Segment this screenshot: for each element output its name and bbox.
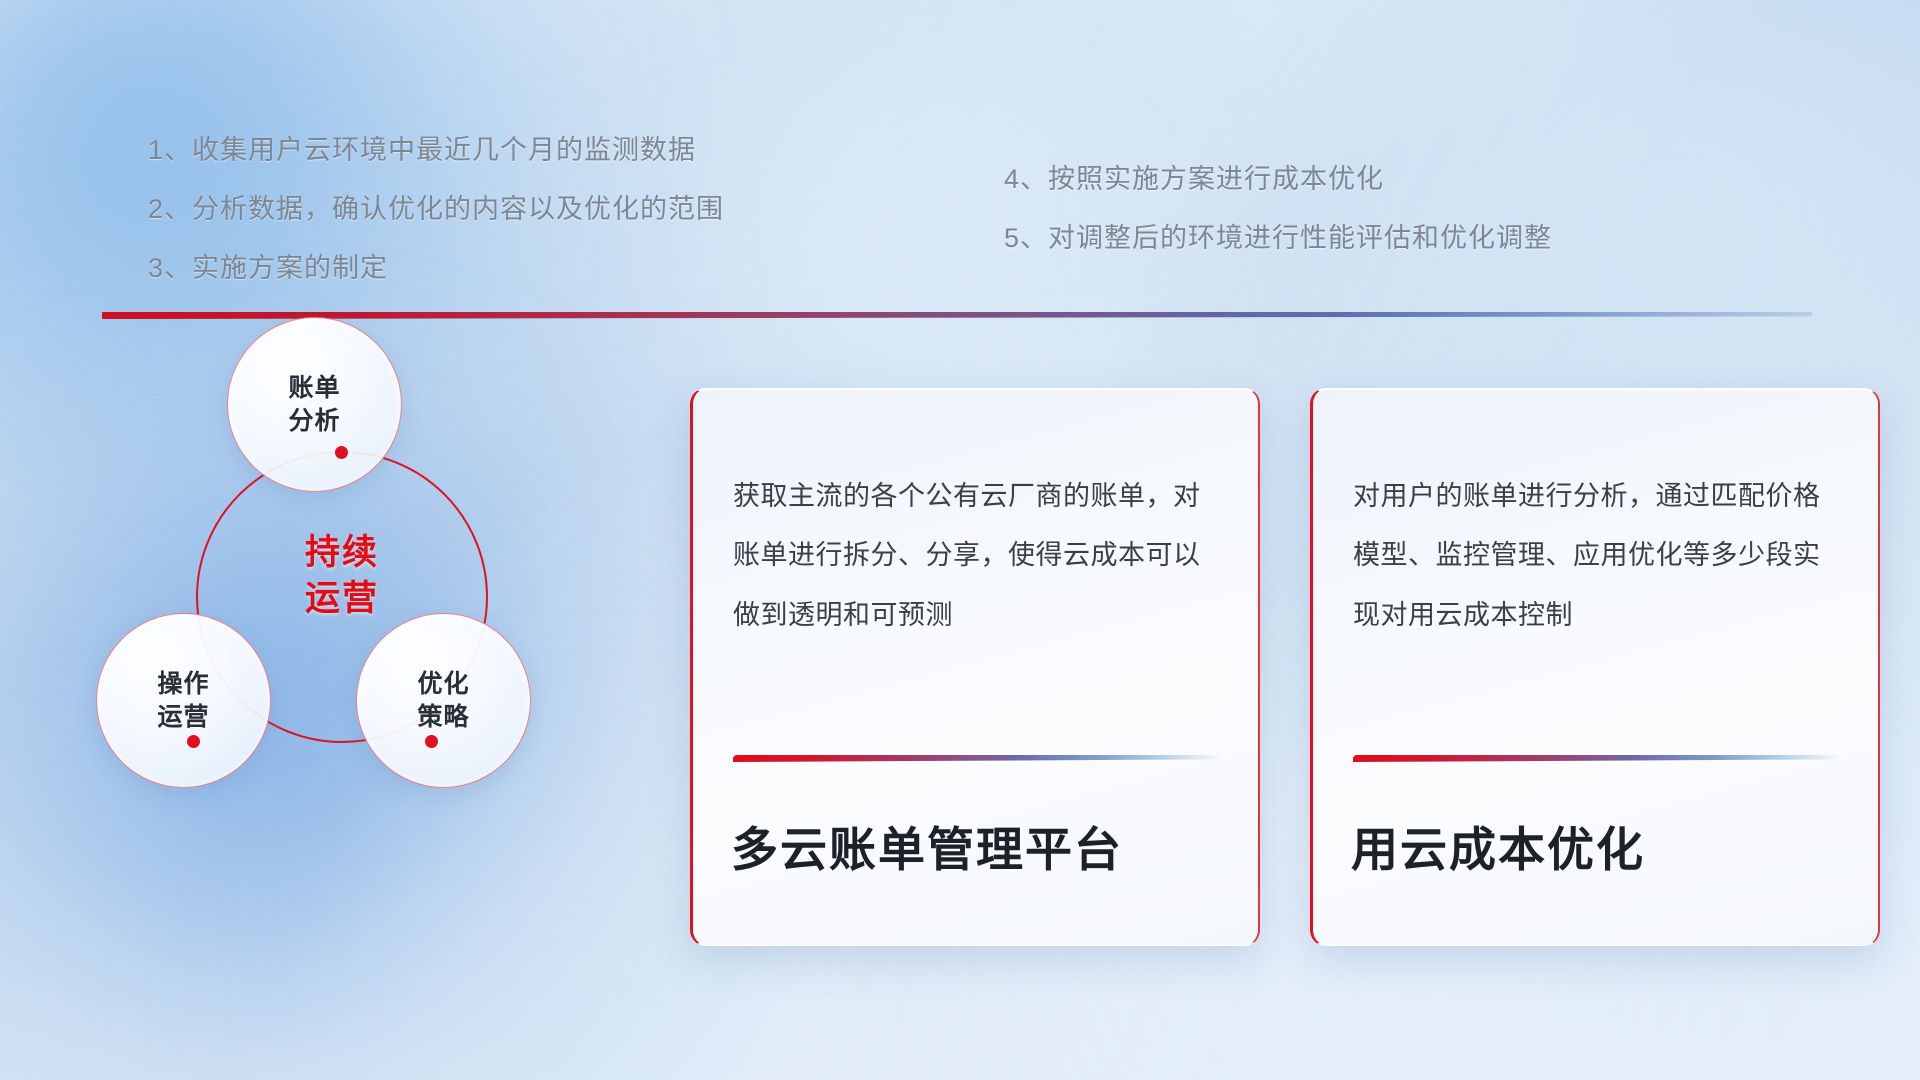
venn-center-line1: 持续	[305, 533, 379, 572]
feature-card-a-description: 获取主流的各个公有云厂商的账单，对账单进行拆分、分享，使得云成本可以做到透明和可…	[733, 467, 1224, 645]
feature-card-multicloud-billing[interactable]: 获取主流的各个公有云厂商的账单，对账单进行拆分、分享，使得云成本可以做到透明和可…	[690, 388, 1260, 946]
venn-bubble-top-line2: 分析	[288, 407, 340, 435]
feature-card-b-title: 用云成本优化	[1351, 811, 1848, 880]
feature-card-cloud-cost-optimization[interactable]: 对用户的账单进行分析，通过匹配价格模型、监控管理、应用优化等多少段实现对用云成本…	[1310, 388, 1880, 946]
venn-bubble-optimization-strategy[interactable]: 优化 策略	[356, 613, 531, 788]
venn-bubble-left-line1: 操作	[157, 670, 209, 698]
feature-card-a-divider	[733, 755, 1222, 762]
venn-bubble-left-label: 操作 运营	[157, 668, 209, 734]
feature-card-a-title: 多云账单管理平台	[731, 811, 1228, 880]
venn-node-dot-right	[425, 735, 438, 748]
process-step-3: 3、实施方案的制定	[148, 246, 388, 285]
feature-card-b-divider	[1353, 755, 1842, 762]
venn-bubble-top-label: 账单 分析	[288, 372, 340, 438]
venn-bubble-operations[interactable]: 操作 运营	[96, 613, 271, 788]
venn-diagram: 账单 分析 操作 运营 优化 策略 持续 运营	[88, 355, 558, 855]
venn-bubble-billing-analysis[interactable]: 账单 分析	[227, 317, 402, 492]
venn-center-line2: 运营	[305, 579, 379, 618]
venn-bubble-right-line2: 策略	[417, 703, 469, 731]
feature-card-b-description: 对用户的账单进行分析，通过匹配价格模型、监控管理、应用优化等多少段实现对用云成本…	[1353, 467, 1844, 645]
venn-node-dot-left	[187, 735, 200, 748]
process-step-4: 4、按照实施方案进行成本优化	[1004, 157, 1384, 196]
process-step-5: 5、对调整后的环境进行性能评估和优化调整	[1004, 216, 1552, 255]
venn-node-dot-top	[335, 446, 348, 459]
process-step-1: 1、收集用户云环境中最近几个月的监测数据	[148, 128, 696, 167]
venn-bubble-left-line2: 运营	[157, 703, 209, 731]
venn-bubble-right-label: 优化 策略	[417, 668, 469, 734]
venn-bubble-right-line1: 优化	[417, 670, 469, 698]
venn-center-label: 持续 运营	[196, 530, 488, 622]
process-step-2: 2、分析数据，确认优化的内容以及优化的范围	[148, 187, 724, 226]
venn-bubble-top-line1: 账单	[288, 374, 340, 402]
